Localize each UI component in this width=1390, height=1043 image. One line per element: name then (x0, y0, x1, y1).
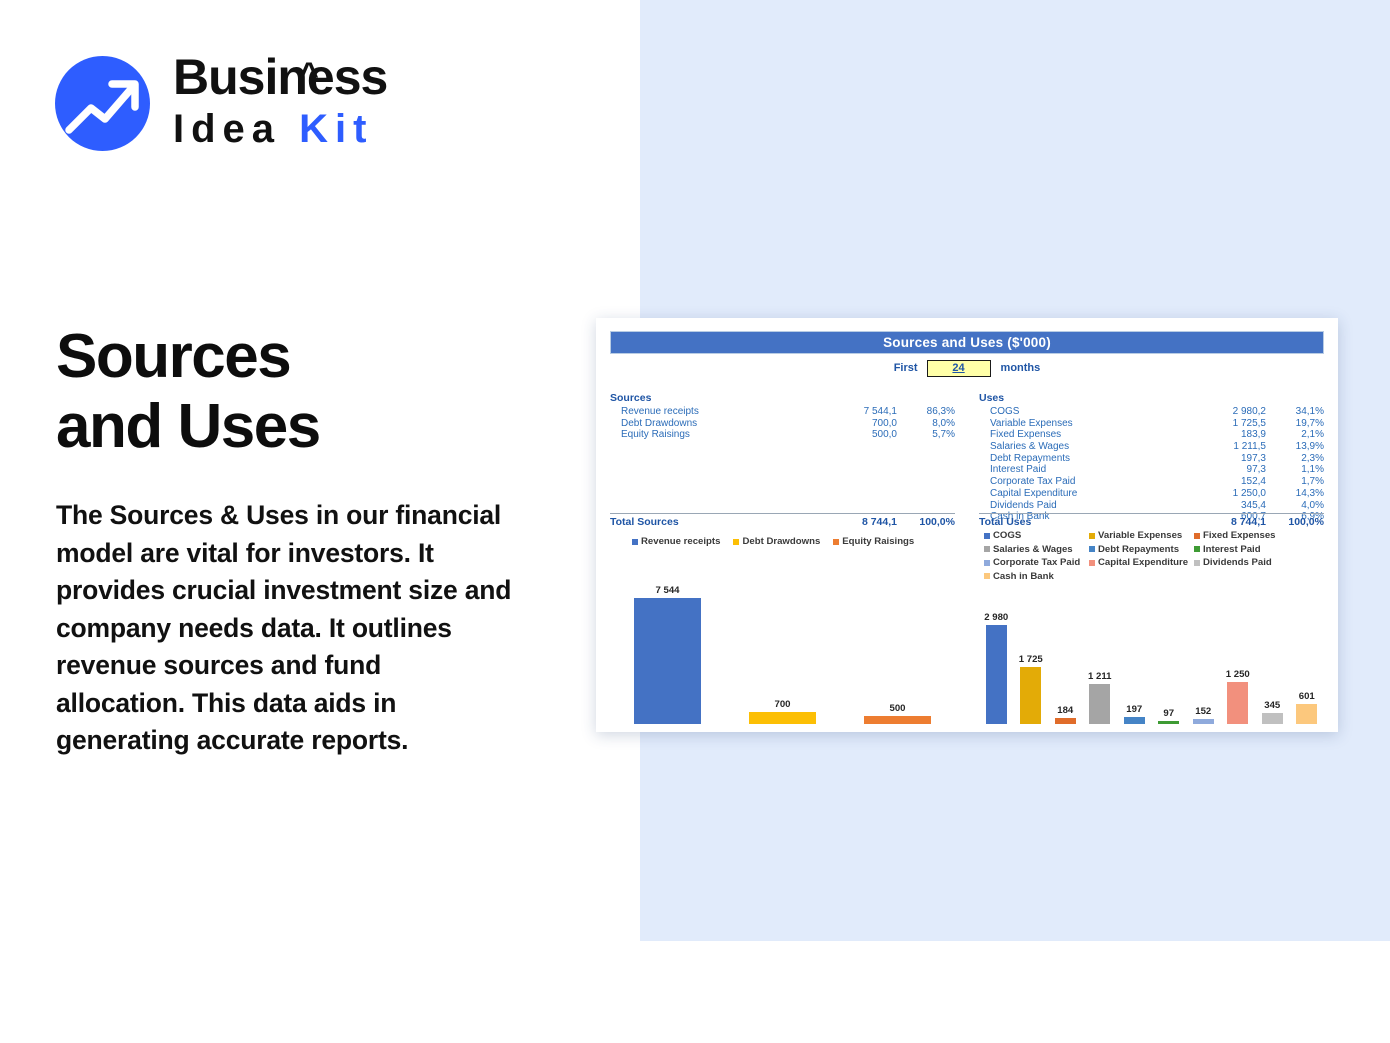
legend-item[interactable]: Cash in Bank (984, 571, 1089, 582)
bar-rect[interactable] (1262, 713, 1283, 724)
sources-total-row: Total Sources 8 744,1 100,0% (610, 513, 955, 529)
brand-line-business: Business ^ (173, 48, 503, 106)
legend-label: Fixed Expenses (1203, 530, 1276, 541)
sources-and-uses-sheet-card: Sources and Uses ($'000) First 24 months… (596, 318, 1338, 732)
bar-slot: 1 211 (1083, 599, 1118, 724)
legend-item[interactable]: Capital Expenditure (1089, 557, 1194, 568)
sources-row-value: 700,0 (825, 418, 897, 430)
sheet-title-bar: Sources and Uses ($'000) (610, 331, 1324, 354)
bar-value-label: 2 980 (984, 612, 1008, 623)
legend-item[interactable]: Interest Paid (1194, 544, 1299, 555)
bar-rect[interactable] (1020, 667, 1041, 724)
sources-total-label: Total Sources (610, 516, 825, 529)
brand-business-text: Business (173, 49, 387, 105)
uses-row-name: Fixed Expenses (979, 429, 1194, 441)
brand-circumflex-accent: ^ (299, 46, 318, 104)
bar-rect[interactable] (1227, 682, 1248, 724)
growth-arrow-icon (55, 56, 150, 151)
uses-rows: COGS2 980,234,1%Variable Expenses1 725,5… (979, 406, 1324, 523)
bar-value-label: 152 (1195, 706, 1211, 717)
bar-value-label: 601 (1299, 691, 1315, 702)
sources-chart-legend: Revenue receiptsDebt DrawdownsEquity Rai… (632, 536, 932, 547)
sources-row-value: 7 544,1 (825, 406, 897, 418)
legend-swatch-icon (984, 560, 990, 566)
bar-slot: 500 (840, 564, 955, 724)
page-title: Sourcesand Uses (56, 322, 616, 462)
bar-slot: 2 980 (979, 599, 1014, 724)
uses-row-name: Dividends Paid (979, 500, 1194, 512)
uses-table: Uses COGS2 980,234,1%Variable Expenses1 … (979, 392, 1324, 523)
uses-total-wrapper: Total Uses 8 744,1 100,0% (979, 511, 1324, 529)
uses-row-percent: 1,1% (1266, 464, 1324, 476)
bar-value-label: 197 (1126, 704, 1142, 715)
uses-row-percent: 13,9% (1266, 441, 1324, 453)
period-control-row: First 24 months (596, 358, 1338, 378)
page-title-line-1: Sources (56, 322, 616, 392)
uses-row-percent: 4,0% (1266, 500, 1324, 512)
bar-value-label: 1 211 (1088, 671, 1111, 682)
uses-row-percent: 34,1% (1266, 406, 1324, 418)
legend-item[interactable]: Fixed Expenses (1194, 530, 1299, 541)
bar-rect[interactable] (1158, 721, 1179, 724)
bar-slot: 345 (1255, 599, 1290, 724)
sources-heading: Sources (610, 392, 955, 404)
bar-slot: 7 544 (610, 564, 725, 724)
brand-line-idea-kit: Idea Kit (173, 106, 503, 152)
bar-rect[interactable] (1055, 718, 1076, 724)
sources-row-name: Debt Drawdowns (610, 418, 825, 430)
uses-row-name: Variable Expenses (979, 418, 1194, 430)
table-row: Debt Drawdowns700,08,0% (610, 418, 955, 430)
uses-row-value: 1 725,5 (1194, 418, 1266, 430)
legend-label: Capital Expenditure (1098, 557, 1188, 568)
brand-kit-text: Kit (299, 107, 373, 151)
bar-rect[interactable] (864, 716, 931, 724)
bar-slot: 97 (1152, 599, 1187, 724)
table-row: Debt Repayments197,32,3% (979, 453, 1324, 465)
uses-row-value: 183,9 (1194, 429, 1266, 441)
uses-row-percent: 1,7% (1266, 476, 1324, 488)
legend-item[interactable]: Corporate Tax Paid (984, 557, 1089, 568)
bar-value-label: 1 725 (1019, 654, 1043, 665)
legend-label: Equity Raisings (842, 536, 914, 547)
uses-row-name: Interest Paid (979, 464, 1194, 476)
legend-item[interactable]: Debt Drawdowns (733, 536, 820, 547)
uses-row-percent: 2,1% (1266, 429, 1324, 441)
legend-label: Revenue receipts (641, 536, 720, 547)
bar-rect[interactable] (1193, 719, 1214, 724)
bar-rect[interactable] (749, 712, 816, 724)
uses-row-value: 1 250,0 (1194, 488, 1266, 500)
uses-total-value: 8 744,1 (1194, 516, 1266, 529)
uses-heading: Uses (979, 392, 1324, 404)
table-row: Variable Expenses1 725,519,7% (979, 418, 1324, 430)
sources-row-name: Revenue receipts (610, 406, 825, 418)
page-description: The Sources & Uses in our financial mode… (56, 497, 516, 760)
legend-swatch-icon (833, 539, 839, 545)
sources-bar-chart: 7 544700500 (610, 564, 955, 724)
sources-row-percent: 5,7% (897, 429, 955, 441)
page-title-line-2: and Uses (56, 392, 616, 462)
bar-slot: 1 725 (1014, 599, 1049, 724)
legend-swatch-icon (632, 539, 638, 545)
bar-value-label: 345 (1264, 700, 1280, 711)
sources-row-percent: 8,0% (897, 418, 955, 430)
legend-item[interactable]: Revenue receipts (632, 536, 720, 547)
uses-row-name: Corporate Tax Paid (979, 476, 1194, 488)
sources-total-value: 8 744,1 (825, 516, 897, 529)
uses-row-value: 2 980,2 (1194, 406, 1266, 418)
bar-value-label: 1 250 (1226, 669, 1250, 680)
legend-swatch-icon (1194, 560, 1200, 566)
period-months-input[interactable]: 24 (927, 360, 991, 377)
bar-value-label: 184 (1057, 705, 1073, 716)
uses-row-value: 345,4 (1194, 500, 1266, 512)
bar-rect[interactable] (1089, 684, 1110, 724)
table-row: Dividends Paid345,44,0% (979, 500, 1324, 512)
sources-table: Sources Revenue receipts7 544,186,3%Debt… (610, 392, 955, 441)
legend-swatch-icon (733, 539, 739, 545)
bar-value-label: 500 (889, 703, 905, 714)
legend-item[interactable]: Dividends Paid (1194, 557, 1299, 568)
bar-value-label: 97 (1163, 708, 1174, 719)
table-row: COGS2 980,234,1% (979, 406, 1324, 418)
bar-value-label: 7 544 (655, 585, 679, 596)
legend-swatch-icon (1089, 546, 1095, 552)
bar-rect[interactable] (986, 625, 1007, 724)
legend-swatch-icon (984, 546, 990, 552)
sources-row-name: Equity Raisings (610, 429, 825, 441)
uses-row-percent: 19,7% (1266, 418, 1324, 430)
legend-label: COGS (993, 530, 1021, 541)
legend-swatch-icon (1089, 533, 1095, 539)
uses-row-name: COGS (979, 406, 1194, 418)
legend-label: Dividends Paid (1203, 557, 1272, 568)
uses-row-value: 97,3 (1194, 464, 1266, 476)
table-row: Corporate Tax Paid152,41,7% (979, 476, 1324, 488)
uses-total-label: Total Uses (979, 516, 1194, 529)
uses-row-percent: 2,3% (1266, 453, 1324, 465)
bar-slot: 700 (725, 564, 840, 724)
uses-chart-legend: COGSVariable ExpensesFixed ExpensesSalar… (984, 530, 1314, 584)
uses-row-name: Salaries & Wages (979, 441, 1194, 453)
period-suffix-label: months (1001, 362, 1041, 374)
legend-swatch-icon (1089, 560, 1095, 566)
bar-value-label: 700 (774, 699, 790, 710)
legend-label: Salaries & Wages (993, 544, 1073, 555)
table-row: Capital Expenditure1 250,014,3% (979, 488, 1324, 500)
legend-label: Cash in Bank (993, 571, 1054, 582)
legend-item[interactable]: Debt Repayments (1089, 544, 1194, 555)
legend-label: Interest Paid (1203, 544, 1261, 555)
uses-row-percent: 14,3% (1266, 488, 1324, 500)
sources-total-percent: 100,0% (897, 516, 955, 529)
bar-rect[interactable] (1296, 704, 1317, 724)
period-prefix-label: First (894, 362, 918, 374)
table-row: Equity Raisings500,05,7% (610, 429, 955, 441)
legend-item[interactable]: Salaries & Wages (984, 544, 1089, 555)
brand-logo: Business ^ Idea Kit (55, 48, 455, 158)
brand-idea-text: Idea (173, 107, 281, 151)
legend-swatch-icon (984, 533, 990, 539)
table-row: Revenue receipts7 544,186,3% (610, 406, 955, 418)
sources-total-wrapper: Total Sources 8 744,1 100,0% (610, 511, 955, 529)
uses-row-name: Capital Expenditure (979, 488, 1194, 500)
uses-row-value: 1 211,5 (1194, 441, 1266, 453)
uses-total-percent: 100,0% (1266, 516, 1324, 529)
uses-bar-chart: 2 9801 7251841 211197971521 250345601 (979, 599, 1324, 724)
legend-swatch-icon (1194, 546, 1200, 552)
uses-bar-series: 2 9801 7251841 211197971521 250345601 (979, 599, 1324, 724)
legend-swatch-icon (984, 573, 990, 579)
legend-label: Debt Drawdowns (742, 536, 820, 547)
legend-label: Debt Repayments (1098, 544, 1179, 555)
bar-slot: 184 (1048, 599, 1083, 724)
legend-swatch-icon (1194, 533, 1200, 539)
uses-row-name: Debt Repayments (979, 453, 1194, 465)
sources-row-percent: 86,3% (897, 406, 955, 418)
legend-label: Corporate Tax Paid (993, 557, 1080, 568)
legend-item[interactable]: Equity Raisings (833, 536, 914, 547)
table-row: Interest Paid97,31,1% (979, 464, 1324, 476)
bar-slot: 601 (1290, 599, 1325, 724)
bar-rect[interactable] (1124, 717, 1145, 724)
sources-rows: Revenue receipts7 544,186,3%Debt Drawdow… (610, 406, 955, 441)
legend-item[interactable]: COGS (984, 530, 1089, 541)
bar-slot: 1 250 (1221, 599, 1256, 724)
sources-row-value: 500,0 (825, 429, 897, 441)
bar-rect[interactable] (634, 598, 701, 724)
legend-label: Variable Expenses (1098, 530, 1182, 541)
table-row: Fixed Expenses183,92,1% (979, 429, 1324, 441)
uses-row-value: 152,4 (1194, 476, 1266, 488)
brand-wordmark: Business ^ Idea Kit (173, 48, 503, 158)
legend-item[interactable]: Variable Expenses (1089, 530, 1194, 541)
uses-row-value: 197,3 (1194, 453, 1266, 465)
uses-total-row: Total Uses 8 744,1 100,0% (979, 513, 1324, 529)
sources-bar-series: 7 544700500 (610, 564, 955, 724)
bar-slot: 152 (1186, 599, 1221, 724)
bar-slot: 197 (1117, 599, 1152, 724)
table-row: Salaries & Wages1 211,513,9% (979, 441, 1324, 453)
